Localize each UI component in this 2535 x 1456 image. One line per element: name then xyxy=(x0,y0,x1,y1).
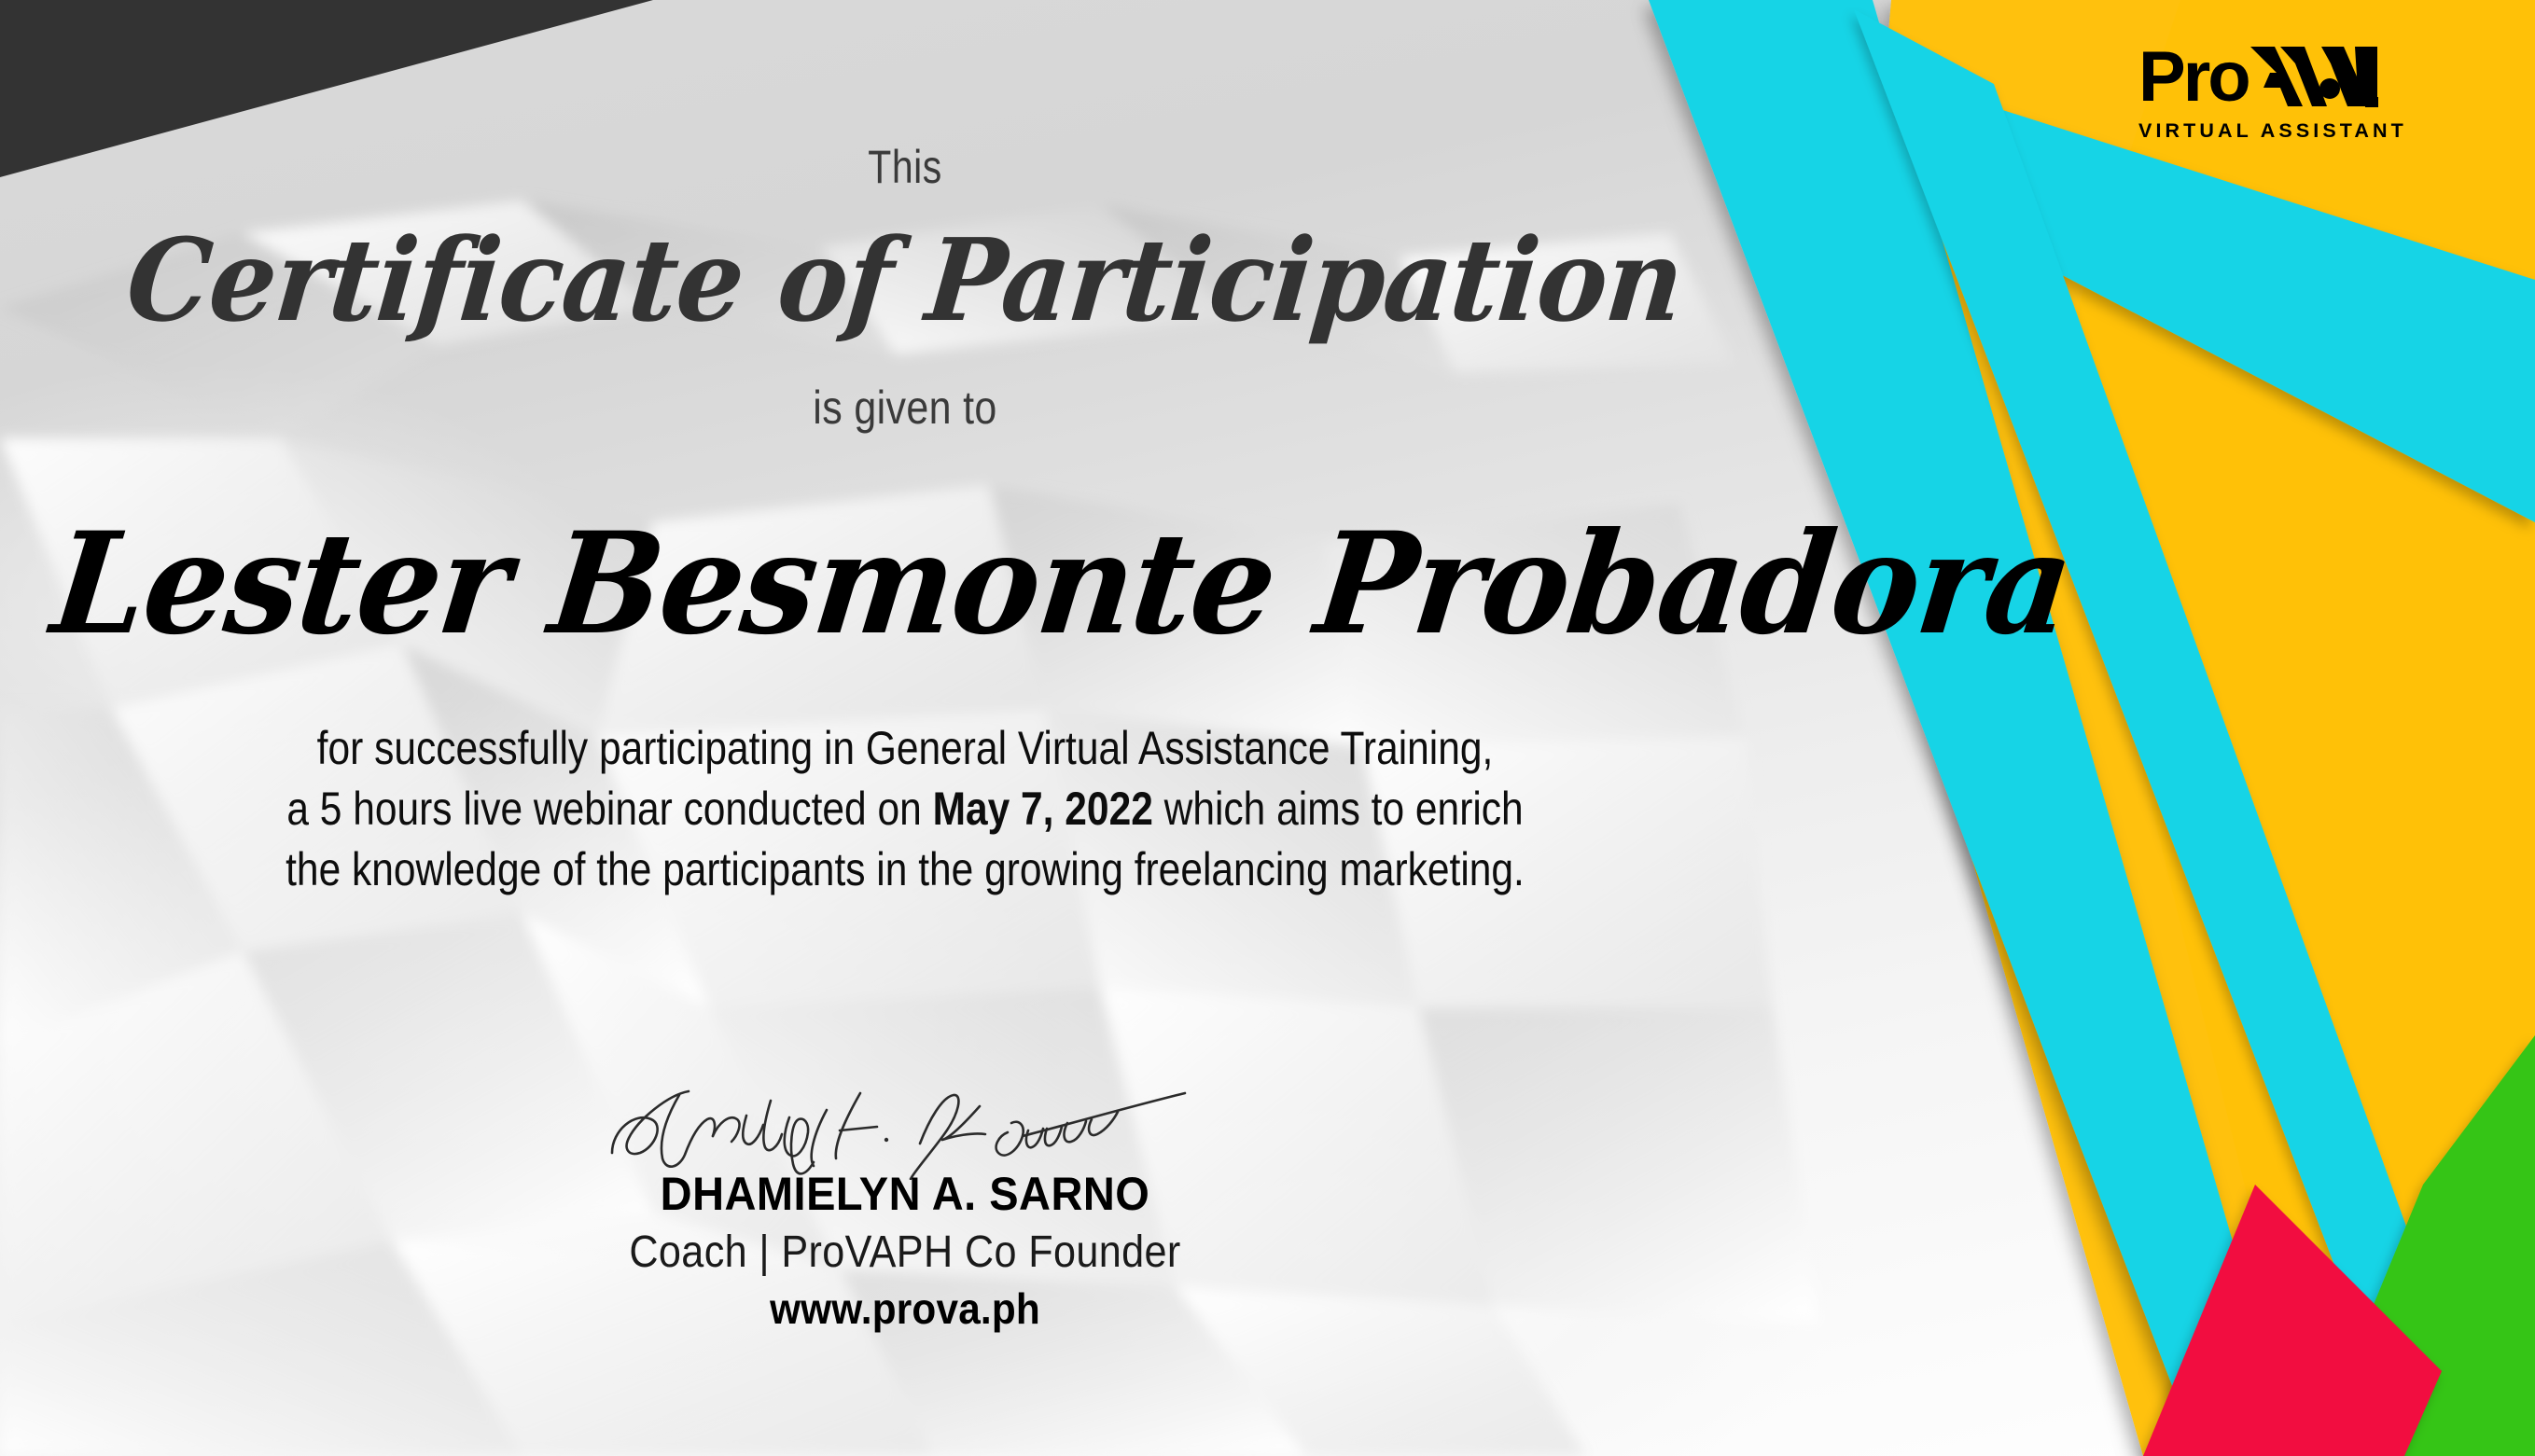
prova-logotype-icon: Pro xyxy=(2138,39,2381,118)
brand-logo: Pro VIRTUAL ASSISTANT xyxy=(2138,39,2381,142)
organization-website: www.prova.ph xyxy=(73,1283,1738,1334)
signature-block: DHAMIELYN A. SARNO Coach | ProVAPH Co Fo… xyxy=(0,1082,1810,1334)
certificate-title: Certificate of Participation xyxy=(66,213,1745,347)
body-line-1: for successfully participating in Genera… xyxy=(184,718,1627,779)
certificate-canvas: Pro VIRTUAL ASSISTANT This Certificate o… xyxy=(0,0,2535,1456)
intro-word: This xyxy=(163,140,1648,194)
signer-name: DHAMIELYN A. SARNO xyxy=(54,1167,1756,1221)
body-line-2: a 5 hours live webinar conducted on May … xyxy=(184,779,1627,839)
given-to-label: is given to xyxy=(127,381,1683,435)
body-line-2-prefix: a 5 hours live webinar conducted on xyxy=(286,783,932,835)
certificate-content: This Certificate of Participation is giv… xyxy=(0,0,1810,1456)
recipient-name: Lester Besmonte Probadora xyxy=(45,502,1765,666)
event-date: May 7, 2022 xyxy=(933,783,1153,835)
logo-wordmark-provа: Pro xyxy=(2138,39,2381,118)
certificate-body: for successfully participating in Genera… xyxy=(56,718,1754,900)
svg-text:Pro: Pro xyxy=(2138,39,2249,117)
signer-role: Coach | ProVAPH Co Founder xyxy=(91,1227,1720,1278)
logo-tagline: VIRTUAL ASSISTANT xyxy=(2138,121,2381,142)
body-line-3: the knowledge of the participants in the… xyxy=(184,839,1627,900)
body-line-2-suffix: which aims to enrich xyxy=(1153,783,1524,835)
handwritten-signature xyxy=(0,1082,1810,1180)
signature-icon xyxy=(606,1082,1204,1180)
